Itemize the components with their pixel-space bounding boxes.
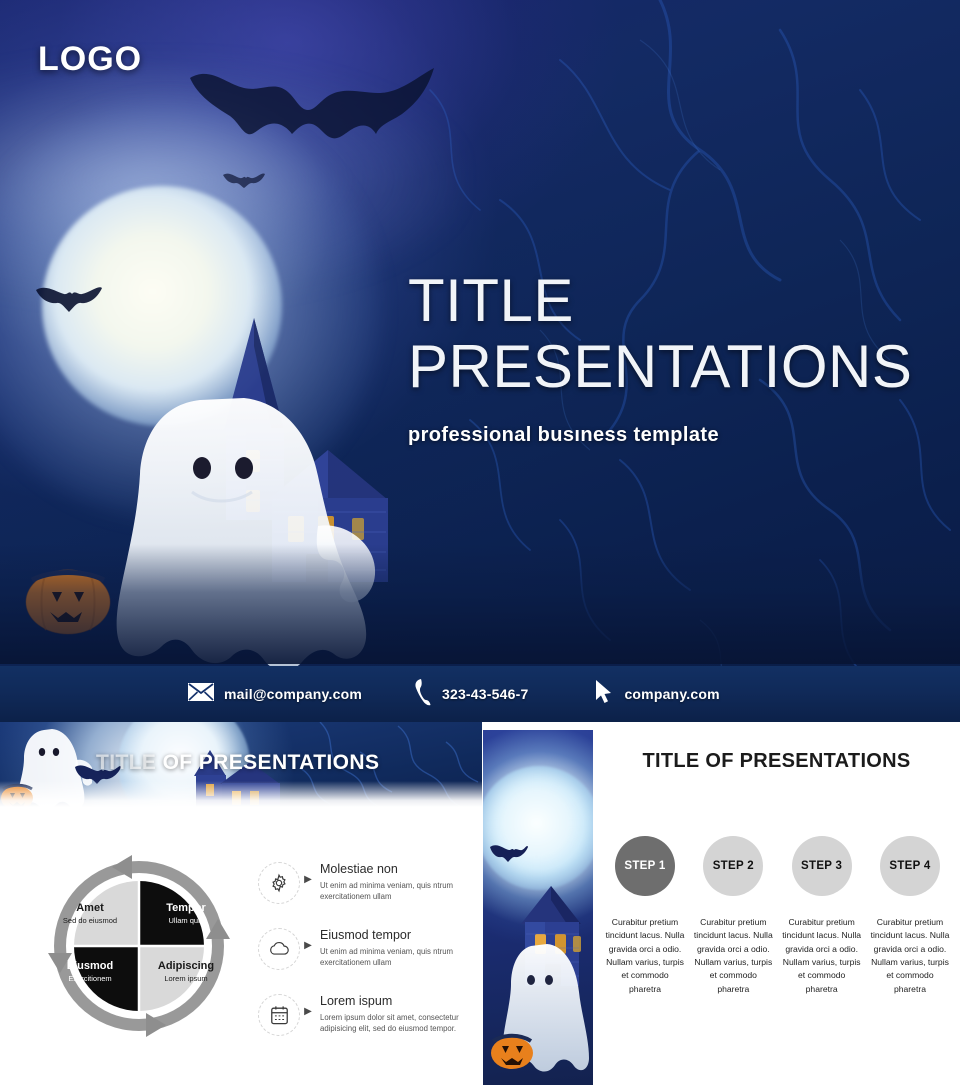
calendar-icon: [258, 994, 300, 1036]
step-description-1: Curabitur pretium tincidunt lacus. Nulla…: [605, 916, 685, 996]
bat-icon: [222, 170, 266, 192]
presentation-template-preview: LOGO TITLE PRESENTATIONS professional bu…: [0, 0, 960, 1085]
cursor-icon: [594, 679, 614, 710]
list-item-title: Eiusmod tempor: [320, 928, 411, 942]
list-item-description: Ut enim ad minima veniam, quis ntrum exe…: [320, 880, 483, 902]
step-description-4: Curabitur pretium tincidunt lacus. Nulla…: [870, 916, 950, 996]
list-item-description: Ut enim ad minima veniam, quis ntrum exe…: [320, 946, 483, 968]
cloud-icon: [258, 928, 300, 970]
strip-bat-icon: [489, 842, 529, 862]
slide-left-title-dim: TITLE: [96, 751, 156, 774]
strip-moon: [483, 766, 593, 890]
bat-icon: [34, 282, 104, 316]
cycle-label-tempor: Tempor Ullam quis: [152, 902, 220, 925]
slide-left-header-banner: TITLE OF PRESENTATIONS: [0, 722, 482, 807]
step-column-3[interactable]: STEP 3 Curabitur pretium tincidunt lacus…: [782, 836, 862, 996]
gear-icon: [258, 862, 300, 904]
page-title: TITLE PRESENTATIONS: [408, 268, 948, 400]
cycle-label-eiusmod-sub: Exercitionem: [54, 975, 126, 984]
strip-pumpkin-icon: [489, 1026, 537, 1070]
hero-slide: LOGO TITLE PRESENTATIONS professional bu…: [0, 0, 960, 722]
list-item[interactable]: ▶ Eiusmod tempor Ut enim ad minima venia…: [258, 926, 483, 970]
step-badge-4[interactable]: STEP 4: [880, 836, 940, 896]
step-column-2[interactable]: STEP 2 Curabitur pretium tincidunt lacus…: [693, 836, 773, 996]
list-item[interactable]: ▶ Molestiae non Ut enim ad minima veniam…: [258, 860, 483, 904]
step-badge-2[interactable]: STEP 2: [703, 836, 763, 896]
contact-phone-label: 323-43-546-7: [442, 686, 528, 702]
step-badge-3[interactable]: STEP 3: [792, 836, 852, 896]
contact-bar: mail@company.com 323-43-546-7 company.co…: [0, 666, 960, 722]
logo-text: LOGO: [38, 40, 142, 79]
contact-email-label: mail@company.com: [224, 686, 362, 702]
cycle-label-eiusmod-title: Eiusmod: [54, 960, 126, 973]
phone-icon: [414, 677, 432, 712]
list-item-title: Lorem ispum: [320, 994, 392, 1008]
ground-layer: [0, 544, 960, 664]
chevron-right-icon: ▶: [300, 1006, 316, 1017]
steps-row: STEP 1 Curabitur pretium tincidunt lacus…: [605, 836, 950, 996]
list-item[interactable]: ▶ Lorem ispum Lorem ipsum dolor sit amet…: [258, 992, 483, 1036]
step-description-2: Curabitur pretium tincidunt lacus. Nulla…: [693, 916, 773, 996]
banner-fade: [0, 781, 482, 807]
list-item-description: Lorem ipsum dolor sit amet, consectetur …: [320, 1012, 483, 1034]
cycle-label-amet-title: Amet: [58, 902, 122, 915]
contact-item-website[interactable]: company.com: [594, 679, 719, 710]
cycle-label-tempor-sub: Ullam quis: [152, 917, 220, 926]
step-column-4[interactable]: STEP 4 Curabitur pretium tincidunt lacus…: [870, 836, 950, 996]
step-column-1[interactable]: STEP 1 Curabitur pretium tincidunt lacus…: [605, 836, 685, 996]
slide-right-title: TITLE OF PRESENTATIONS: [593, 750, 960, 773]
envelope-icon: [188, 683, 214, 706]
slide-left-title: TITLE OF PRESENTATIONS: [96, 751, 379, 775]
cycle-diagram[interactable]: [48, 855, 230, 1037]
cycle-label-tempor-title: Tempor: [152, 902, 220, 915]
slide-left-title-bright: OF PRESENTATIONS: [156, 751, 379, 774]
cycle-label-adipiscing-title: Adipiscing: [148, 960, 224, 973]
slide-thumbnails-row: TITLE OF PRESENTATIONS: [0, 722, 960, 1085]
step-badge-1[interactable]: STEP 1: [615, 836, 675, 896]
bat-icon: [186, 62, 436, 162]
page-title-line-2: PRESENTATIONS: [408, 333, 912, 400]
step-description-3: Curabitur pretium tincidunt lacus. Nulla…: [782, 916, 862, 996]
feature-list: ▶ Molestiae non Ut enim ad minima veniam…: [258, 860, 483, 1058]
contact-website-label: company.com: [624, 686, 719, 702]
cycle-label-amet-sub: Sed do eiusmod: [58, 917, 122, 926]
page-subtitle: professional busıness template: [408, 424, 948, 447]
chevron-right-icon: ▶: [300, 874, 316, 885]
cycle-label-eiusmod: Eiusmod Exercitionem: [54, 960, 126, 983]
slide-thumbnail-right[interactable]: TITLE OF PRESENTATIONS STEP 1 Curabitur …: [593, 722, 960, 1085]
page-title-line-1: TITLE: [408, 267, 574, 334]
slide-image-strip[interactable]: [483, 730, 593, 1085]
chevron-right-icon: ▶: [300, 940, 316, 951]
cycle-label-amet: Amet Sed do eiusmod: [58, 902, 122, 925]
contact-item-phone[interactable]: 323-43-546-7: [414, 677, 528, 712]
cycle-label-adipiscing: Adipiscing Lorem ipsum: [148, 960, 224, 983]
cycle-label-adipiscing-sub: Lorem ipsum: [148, 975, 224, 984]
contact-item-email[interactable]: mail@company.com: [188, 683, 362, 706]
list-item-title: Molestiae non: [320, 862, 398, 876]
